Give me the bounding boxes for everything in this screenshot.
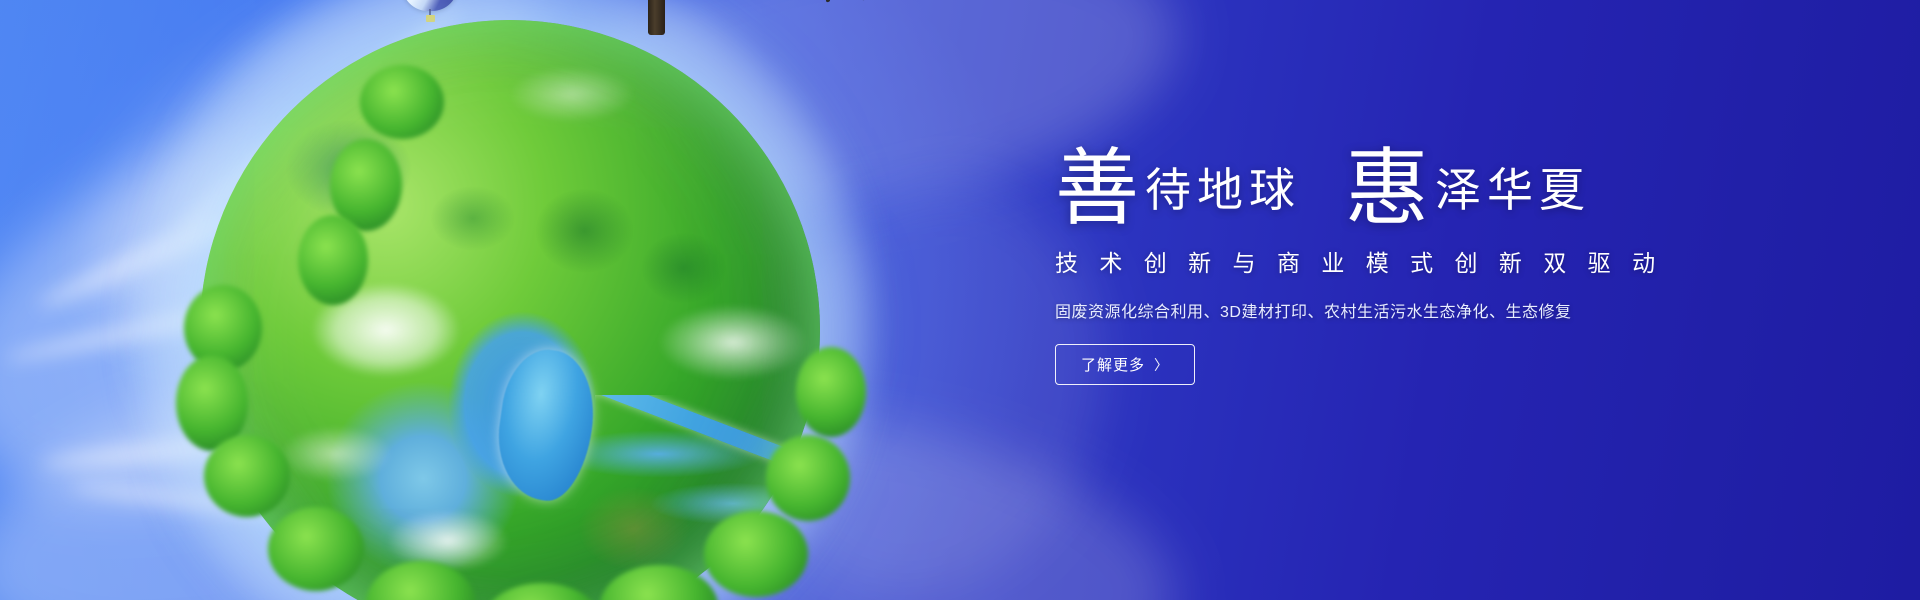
hero-banner: 善 待地球 惠 泽华夏 技 术 创 新 与 商 业 模 式 创 新 双 驱 动 … [0,0,1920,600]
page-description: 固废资源化综合利用、3D建材打印、农村生活污水生态净化、生态修复 [1055,298,1755,322]
forest-tuft [298,215,368,305]
bird [826,0,831,3]
headline-rest-1: 待地球 [1139,168,1301,214]
forest-tuft [796,347,866,437]
hot-air-balloon-icon [402,0,458,23]
hero-text-panel: 善 待地球 惠 泽华夏 技 术 创 新 与 商 业 模 式 创 新 双 驱 动 … [1055,142,1755,385]
headline-rest-2: 泽华夏 [1429,168,1591,214]
bird [862,0,867,1]
globe-illustration [170,0,830,600]
forest-tuft [360,65,444,139]
tree-trunk [648,0,665,35]
learn-more-button[interactable]: 了解更多 〉 [1055,344,1195,385]
forest-tuft [268,507,364,591]
headline-lead-char-1: 善 [1055,148,1139,232]
headline-lead-char-2: 惠 [1345,148,1429,232]
chevron-right-icon: 〉 [1154,358,1169,372]
page-subtitle: 技 术 创 新 与 商 业 模 式 创 新 双 驱 动 [1055,244,1755,278]
bird-flock-icon [758,0,888,9]
page-title: 善 待地球 惠 泽华夏 [1055,142,1755,226]
learn-more-label: 了解更多 [1081,354,1145,375]
balloon-basket [426,15,435,22]
forest-tuft [704,511,808,597]
forest-tuft [204,435,290,517]
forest-tuft [766,435,850,521]
